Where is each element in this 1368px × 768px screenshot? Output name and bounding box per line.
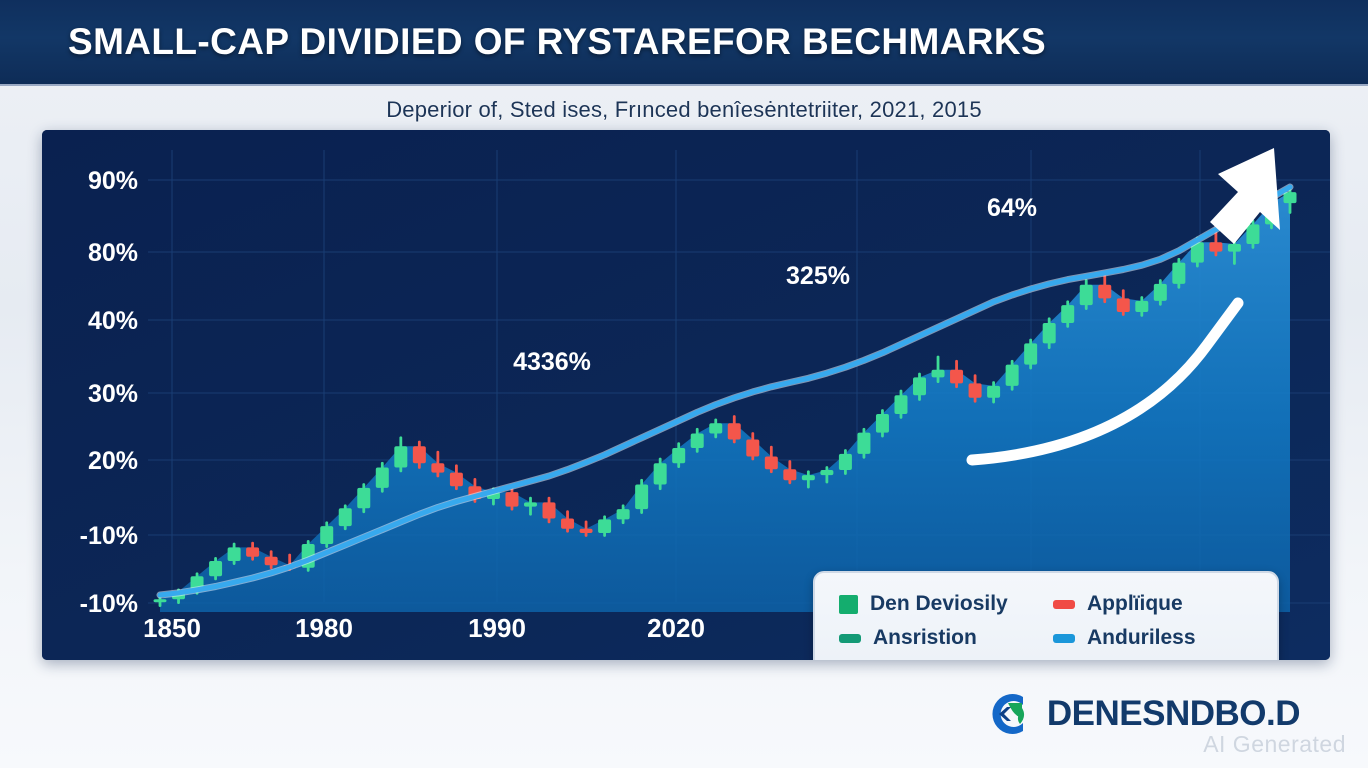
legend-swatch-icon	[839, 634, 861, 643]
legend-item[interactable]: Doravansions	[839, 655, 1043, 660]
legend-item[interactable]: Doopoittion	[1053, 655, 1257, 660]
x-axis-tick-label: 2020	[647, 613, 705, 643]
legend-item[interactable]: Applïique	[1053, 587, 1257, 621]
legend-swatch-icon	[1053, 634, 1075, 643]
data-annotation-label: 64%	[987, 194, 1037, 222]
logo-mark-icon	[985, 690, 1033, 738]
data-annotation-label: 4336%	[513, 348, 591, 376]
legend-item-label: Ansristion	[873, 626, 977, 650]
y-axis-tick-label: 40%	[88, 307, 138, 335]
y-axis-tick-label: -10%	[80, 522, 138, 550]
x-axis-tick-label: 1850	[143, 613, 201, 643]
header-bar: SMALL-CAP DIVIDIED OF RYSTAREFOR BECHMAR…	[0, 0, 1368, 86]
legend-item-label: Applïique	[1087, 592, 1183, 616]
x-axis-tick-label: 1990	[468, 613, 526, 643]
y-axis-tick-label: 80%	[88, 239, 138, 267]
legend-swatch-icon	[1053, 600, 1075, 609]
legend-swatch-icon	[839, 595, 858, 614]
y-axis-tick-label: 90%	[88, 167, 138, 195]
chart-legend: Den DeviosilyApplïiqueAnsristionAndurile…	[813, 571, 1279, 660]
chart-panel: 90%80%40%30%20%-10%-10%18501980199020202…	[42, 130, 1330, 660]
legend-item[interactable]: Den Deviosily	[839, 587, 1043, 621]
y-axis-tick-label: -10%	[80, 590, 138, 618]
legend-item[interactable]: Ansristion	[839, 621, 1043, 655]
y-axis-tick-label: 30%	[88, 380, 138, 408]
logo-text: DENESNDBO.D	[1047, 694, 1300, 734]
x-axis-tick-label: 1980	[295, 613, 353, 643]
legend-item-label: Anduriless	[1087, 626, 1196, 650]
page-title: SMALL-CAP DIVIDIED OF RYSTAREFOR BECHMAR…	[68, 21, 1046, 63]
legend-item[interactable]: Anduriless	[1053, 621, 1257, 655]
y-axis-tick-label: 20%	[88, 447, 138, 475]
ai-generated-watermark: AI Generated	[1203, 731, 1346, 758]
legend-item-label: Den Deviosily	[870, 592, 1008, 616]
chart-subtitle: Deperior of, Sted ises, Frınced benîesėn…	[0, 88, 1368, 132]
data-annotation-label: 325%	[786, 262, 850, 290]
